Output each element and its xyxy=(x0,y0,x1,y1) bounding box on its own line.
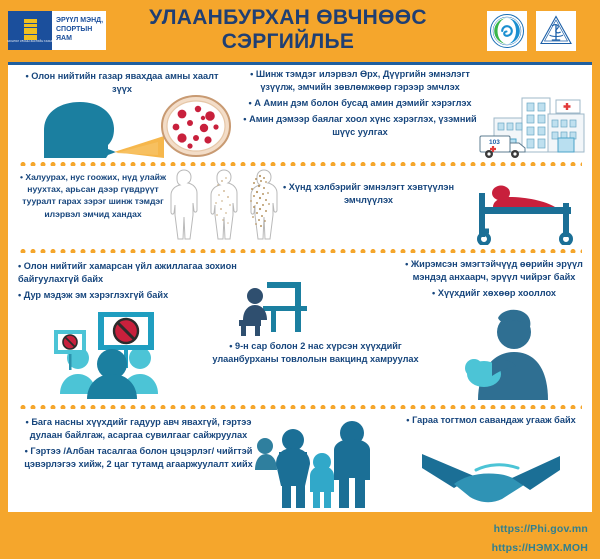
bullet: Гэртээ /Албан тасалгаа болон цэцэрлэг/ ч… xyxy=(16,445,261,471)
mask-advice-text: Олон нийтийн газар явахдаа амны хаалт зү… xyxy=(22,70,222,96)
vaccination-text: 9-н сар болон 2 нас хүрсэн хүүхдийг улаа… xyxy=(198,340,433,366)
row-separator xyxy=(18,249,582,253)
bullet: Хүнд хэлбэрийг эмнэлэгт хэвтүүлэн эмчлүү… xyxy=(276,181,461,207)
measles-virus-cells-icon xyxy=(160,94,232,158)
crowd-with-prohibition-sign-icon xyxy=(44,308,194,400)
ministry-logo-line1: ЭРҮҮЛ МЭНД, xyxy=(56,17,106,26)
person-at-desk-icon xyxy=(233,276,345,338)
hospital-with-ambulance-icon: 103 xyxy=(478,86,592,162)
handwashing-text: Гараа тогтмол савандаж угааж байх xyxy=(390,414,592,427)
url-nemh[interactable]: https://НЭМХ.МОН xyxy=(492,542,588,554)
home-care-text: Бага насны хүүхдийг гадуур авч явахгүй, … xyxy=(16,416,261,471)
treatment-advice-text: Шинж тэмдэг илэрвэл Өрх, Дүүргийн эмнэлэ… xyxy=(236,68,484,139)
crest-caption: МОНГОЛ УЛСЫН ЗАСГИЙН ГАЗАР xyxy=(7,41,52,44)
page-title: УЛААНБУРХАН ӨВЧНӨӨС СЭРГИЙЛЬЕ xyxy=(112,0,464,60)
handwashing-icon xyxy=(420,444,562,508)
bullet: Олон нийтийг хамарсан үйл ажиллагаа зохи… xyxy=(18,260,253,286)
pregnancy-advice-text: Жирэмсэн эмэгтэйчүүд өөрийн эрүүл мэндэд… xyxy=(396,258,592,300)
row-separator xyxy=(18,405,582,409)
symptoms-text: Халуурах, нус гоожих, нүд улайж нуухтах,… xyxy=(18,171,168,220)
poster-footer: https://Phi.gov.mn https://НЭМХ.МОН xyxy=(0,512,600,559)
mother-breastfeeding-icon xyxy=(440,306,560,402)
nceh-circular-logo xyxy=(487,11,527,51)
mongolia-state-emblem-icon: МОНГОЛ УЛСЫН ЗАСГИЙН ГАЗАР xyxy=(8,11,52,50)
bullet: Хүүхдийг хөхөөр хооллох xyxy=(396,287,592,300)
bullet: Олон нийтийн газар явахдаа амны хаалт зү… xyxy=(22,70,222,96)
row-separator xyxy=(18,162,582,166)
health-triangle-caduceus-logo xyxy=(536,11,576,51)
poster-header: МОНГОЛ УЛСЫН ЗАСГИЙН ГАЗАР ЭРҮҮЛ МЭНД, С… xyxy=(0,0,600,60)
bullet: Гараа тогтмол савандаж угааж байх xyxy=(390,414,592,427)
measles-prevention-infographic: МОНГОЛ УЛСЫН ЗАСГИЙН ГАЗАР ЭРҮҮЛ МЭНД, С… xyxy=(0,0,600,559)
bullet: Шинж тэмдэг илэрвэл Өрх, Дүүргийн эмнэлэ… xyxy=(236,68,484,94)
soyombo-symbol-icon xyxy=(24,19,37,40)
bullet: Бага насны хүүхдийг гадуур авч явахгүй, … xyxy=(16,416,261,442)
ambulance-number: 103 xyxy=(489,139,500,146)
bullet: Халуурах, нус гоожих, нүд улайж нуухтах,… xyxy=(18,171,168,220)
family-group-icon xyxy=(251,416,381,510)
url-phi[interactable]: https://Phi.gov.mn xyxy=(494,523,588,535)
hospital-bed-patient-icon xyxy=(463,179,581,245)
bullet: Амин дэмээр баялаг хоол хүнс хэрэглэх, ү… xyxy=(236,113,484,139)
rash-progression-bodies-icon xyxy=(160,167,282,251)
row-home-care-handwash: Бага насны хүүхдийг гадуур авч явахгүй, … xyxy=(8,410,592,512)
row-gatherings-pregnancy-vaccine: Олон нийтийг хамарсан үйл ажиллагаа зохи… xyxy=(8,254,592,407)
bullet: А Амин дэм болон бусад амин дэмийг хэрэг… xyxy=(236,97,484,110)
avoid-gatherings-text: Олон нийтийг хамарсан үйл ажиллагаа зохи… xyxy=(18,260,253,302)
ministry-logo-line2: СПОРТЫН ЯАМ xyxy=(56,26,106,44)
row-symptoms: Халуурах, нус гоожих, нүд улайж нуухтах,… xyxy=(8,167,592,251)
bullet: Дур мэдэж эм хэрэглэхгүй байх xyxy=(18,289,253,302)
ministry-of-health-and-sports-logo: МОНГОЛ УЛСЫН ЗАСГИЙН ГАЗАР ЭРҮҮЛ МЭНД, С… xyxy=(8,11,106,50)
severe-case-text: Хүнд хэлбэрийг эмнэлэгт хэвтүүлэн эмчлүү… xyxy=(276,181,461,207)
content-card: Олон нийтийн газар явахдаа амны хаалт зү… xyxy=(8,62,592,512)
bullet: Жирэмсэн эмэгтэйчүүд өөрийн эрүүл мэндэд… xyxy=(396,258,592,284)
bullet: 9-н сар болон 2 нас хүрсэн хүүхдийг улаа… xyxy=(198,340,433,366)
ministry-logo-label: ЭРҮҮЛ МЭНД, СПОРТЫН ЯАМ xyxy=(52,11,106,50)
row-prevention-treatment: Олон нийтийн газар явахдаа амны хаалт зү… xyxy=(8,62,592,162)
